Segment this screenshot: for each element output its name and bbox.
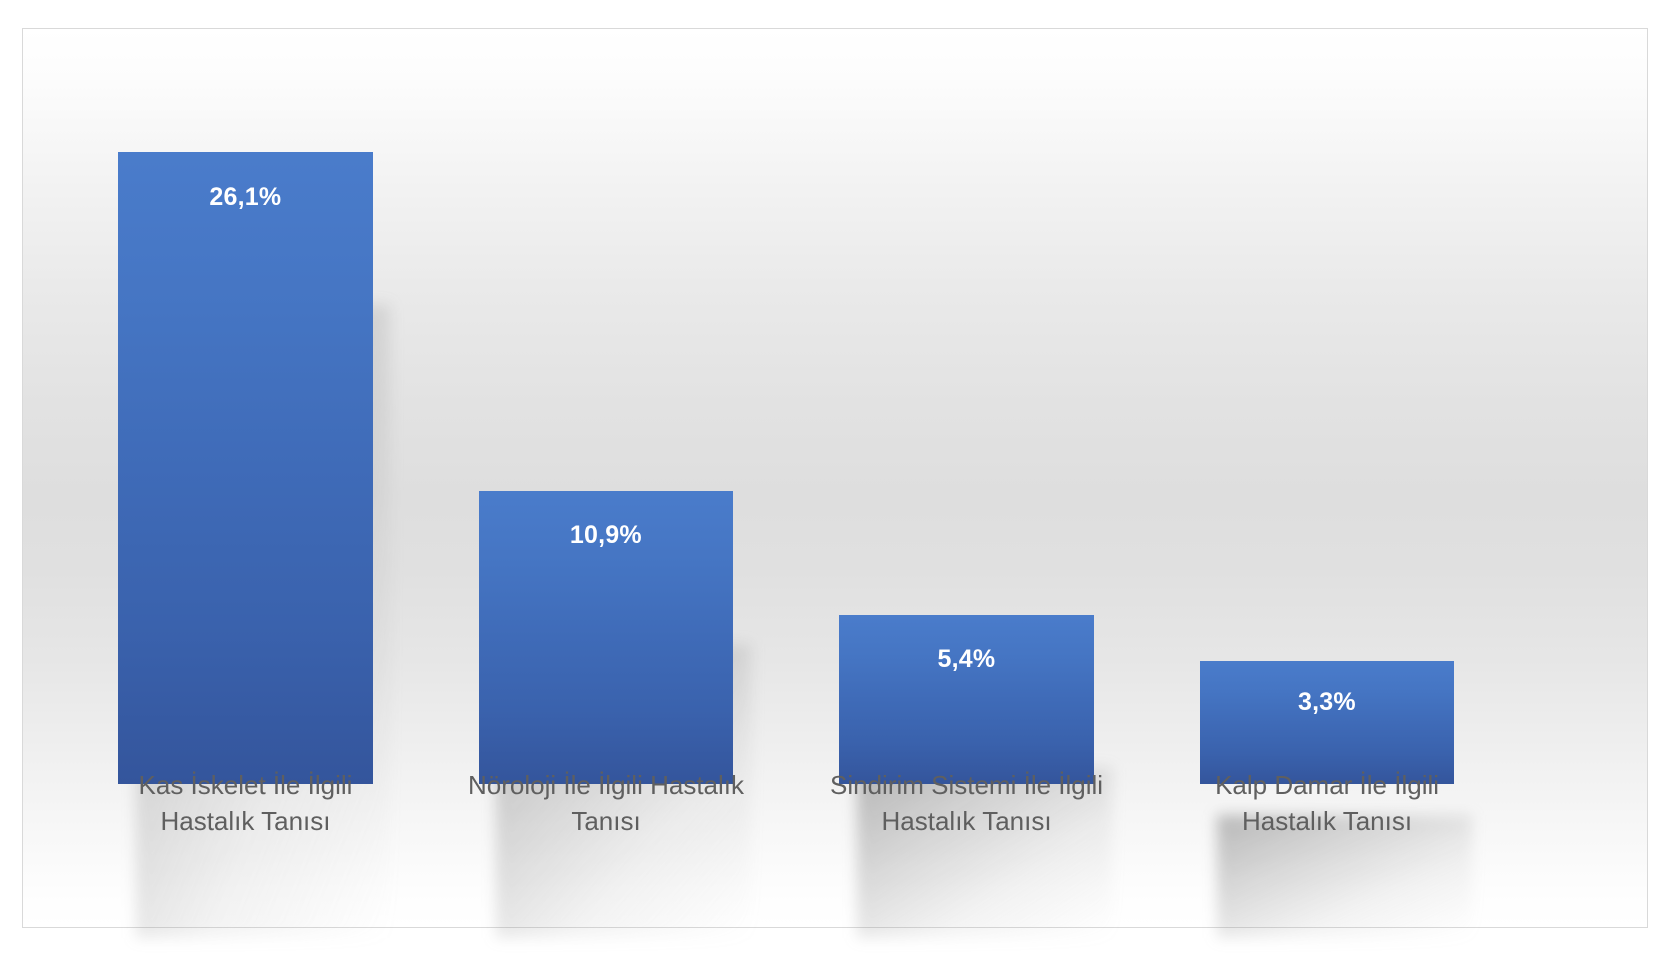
screenshot-root: 26,1% 10,9% 5,4% 3,3%	[0, 0, 1674, 953]
category-label-3: Sindirim Sistemi İle İlgili Hastalık Tan…	[780, 768, 1154, 840]
bar-3[interactable]: 5,4%	[839, 615, 1094, 785]
bar-value-label-2: 10,9%	[479, 521, 734, 550]
bar-4[interactable]: 3,3%	[1200, 661, 1455, 784]
category-label-4: Kalp Damar İle İlgili Hastalık Tanısı	[1140, 768, 1514, 840]
bar-value-label-3: 5,4%	[839, 645, 1094, 674]
bar-value-label-1: 26,1%	[118, 183, 373, 212]
bar-value-label-4: 3,3%	[1200, 688, 1455, 717]
plot-area: 26,1% 10,9% 5,4% 3,3%	[23, 29, 1647, 927]
bar-2[interactable]: 10,9%	[479, 491, 734, 785]
bar-1[interactable]: 26,1%	[118, 152, 373, 785]
chart-frame: 26,1% 10,9% 5,4% 3,3%	[22, 28, 1648, 928]
category-label-2: Nöroloji İle İlgili Hastalık Tanısı	[419, 768, 793, 840]
category-label-1: Kas İskelet İle İlgili Hastalık Tanısı	[59, 768, 433, 840]
